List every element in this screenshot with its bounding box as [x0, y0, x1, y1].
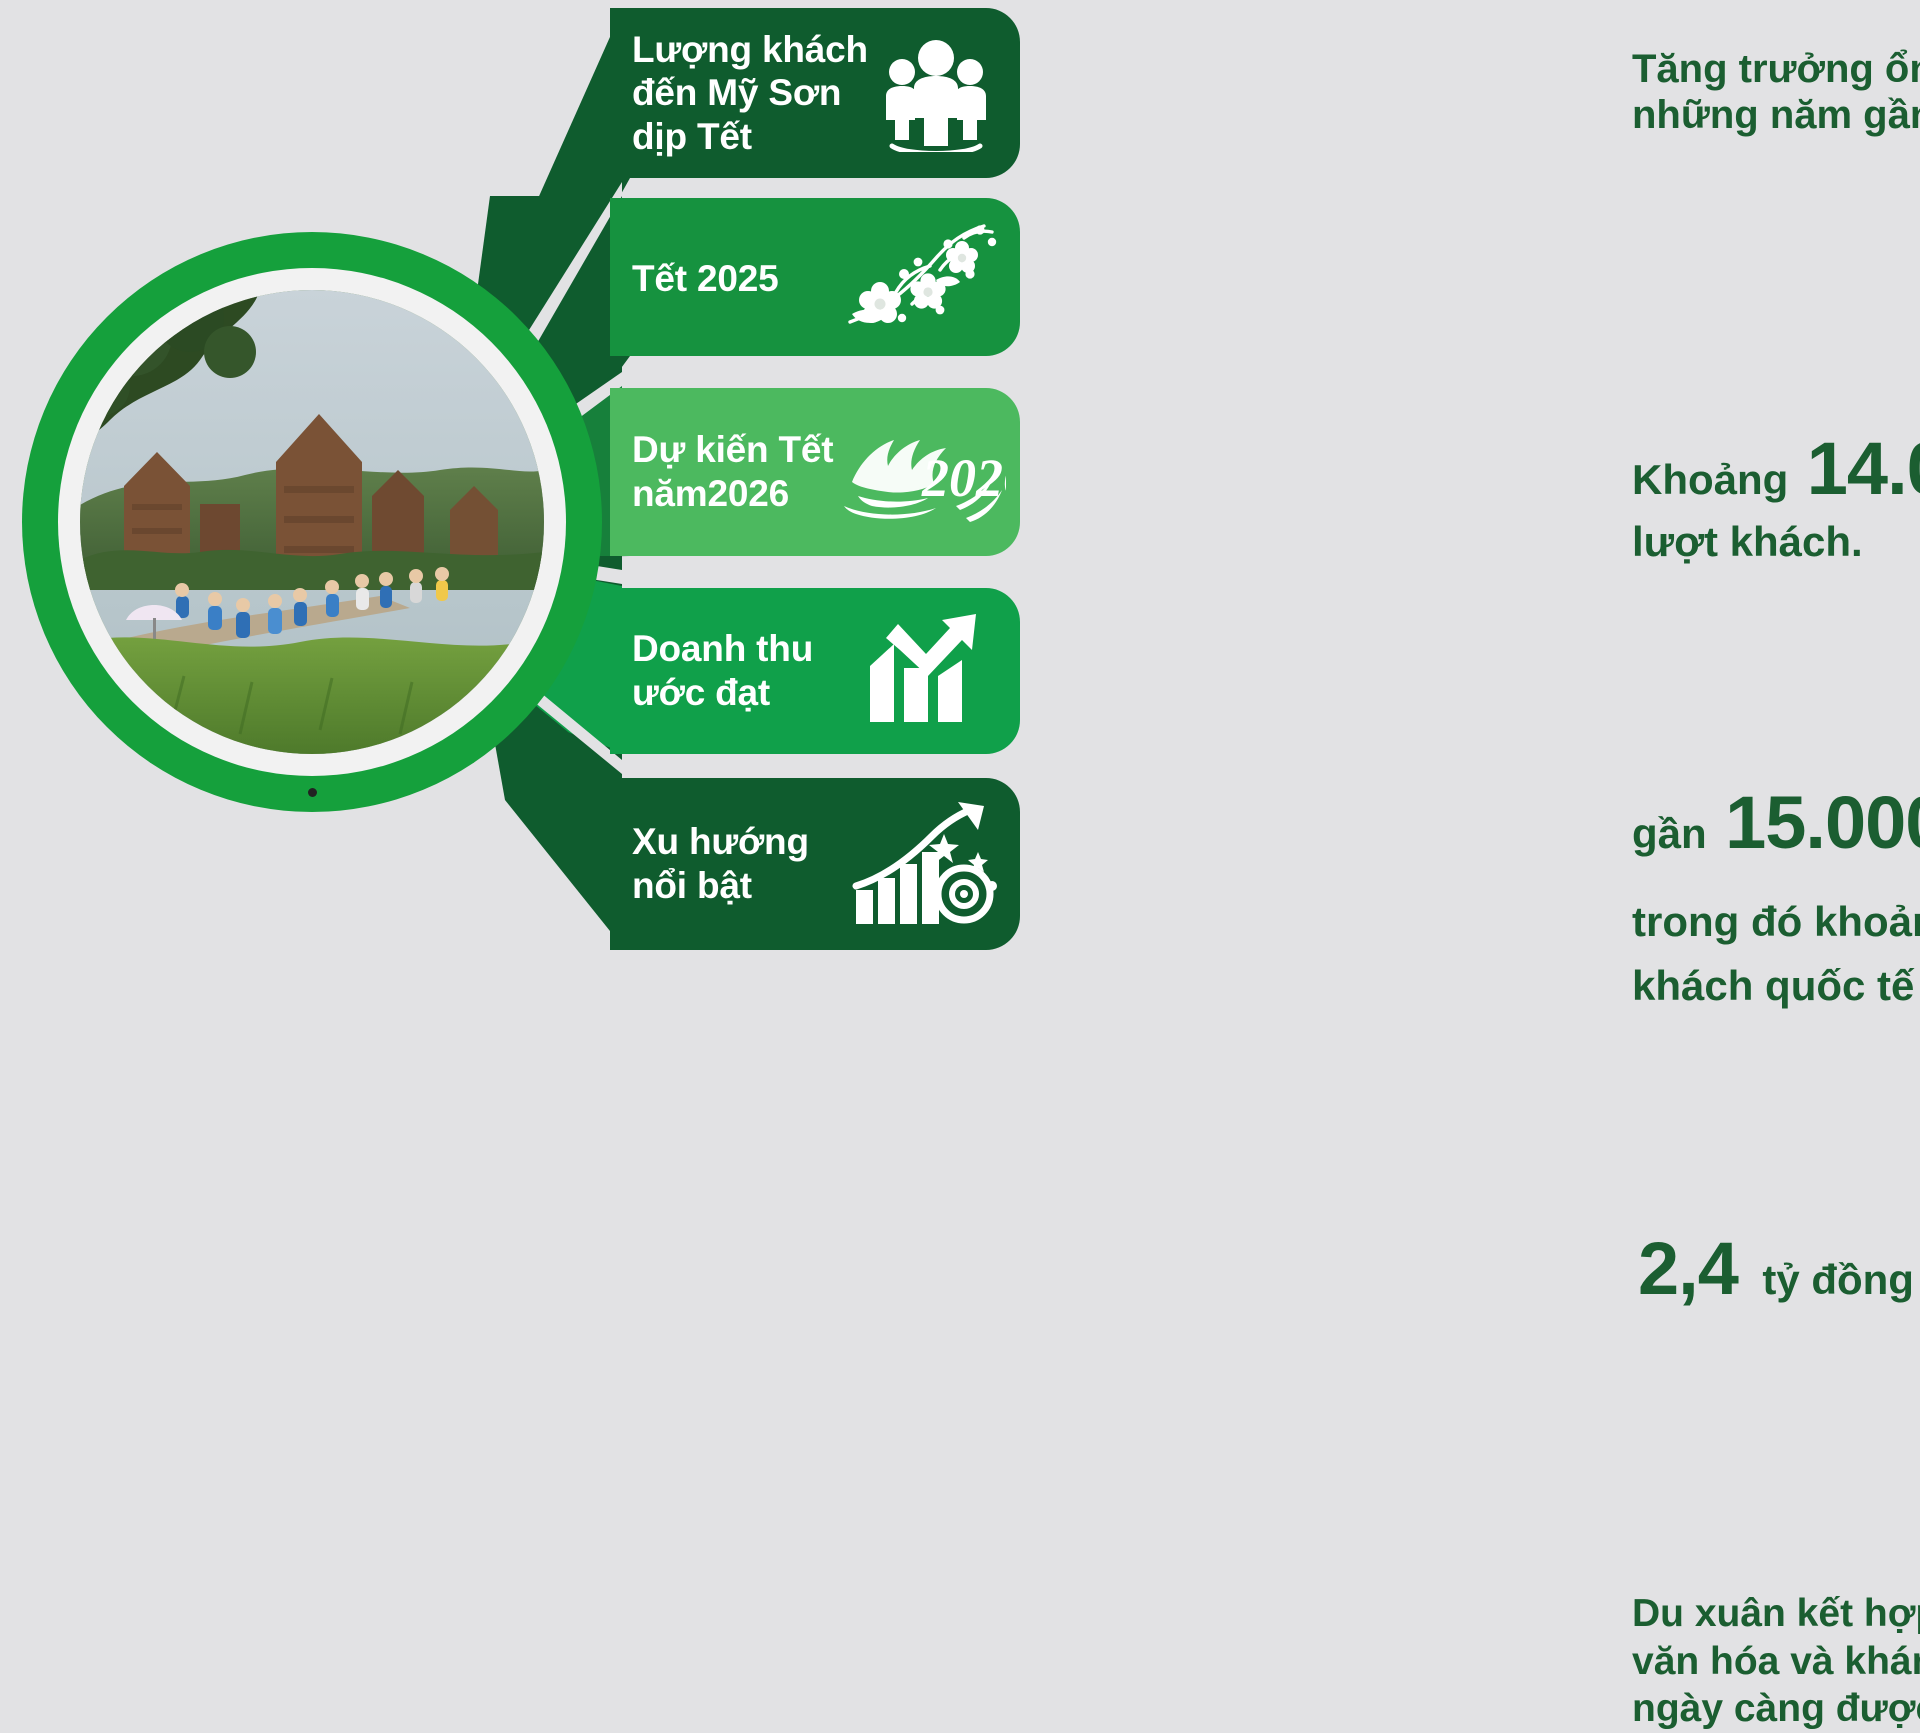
row-tet-2025-side-text: Khoảng 14.000 lượt khách. [1632, 432, 1920, 566]
row-trend-pill[interactable]: Xu hướng nổi bật [610, 778, 1020, 950]
row-tet-2026-pill[interactable]: Dự kiến Tết năm2026 2026 [610, 388, 1020, 556]
horse-2026-icon: 2026 [836, 410, 1006, 534]
row-tet-2025-title: Tết 2025 [632, 257, 779, 301]
row-trend-side-line-2: văn hóa và khám phá thiên nhiên [1632, 1638, 1920, 1686]
row-visitors-side-text: Tăng trưởng ổn định những năm gần đây [1632, 46, 1920, 138]
row-visitors: Lượng khách đến Mỹ Sơn dịp Tết Tăng trư [610, 8, 1020, 178]
row-visitors-pill[interactable]: Lượng khách đến Mỹ Sơn dịp Tết [610, 8, 1020, 178]
row-visitors-side-line-1: Tăng trưởng ổn định [1632, 46, 1920, 92]
row-tet-2026-number: 15.000 [1725, 786, 1920, 860]
row-tet-2026-side-text: gần 15.000 lượt khách, trong đó khoảng 1… [1632, 786, 1920, 1010]
row-revenue-side-text: 2,4 tỷ đồng [1638, 1226, 1914, 1311]
my-son-photo [80, 290, 544, 754]
infographic-canvas: Lượng khách đến Mỹ Sơn dịp Tết Tăng trư [0, 0, 1920, 1180]
row-revenue-number: 2,4 [1638, 1226, 1738, 1311]
row-tet-2026-side-suffix-2: khách quốc tế [1632, 962, 1920, 1010]
my-son-photo-circle [22, 232, 602, 812]
horse-2026-label: 2026 [921, 448, 1006, 508]
row-trend: Xu hướng nổi bật [610, 778, 1020, 950]
target-growth-icon [852, 798, 1002, 930]
row-tet-2025-pill[interactable]: Tết 2025 [610, 198, 1020, 356]
row-tet-2025-side-suffix: lượt khách. [1632, 518, 1920, 566]
row-tet-2026: Dự kiến Tết năm2026 2026 gần 15.000 [610, 388, 1020, 556]
row-tet-2025: Tết 2025 [610, 198, 1020, 356]
row-trend-title: Xu hướng nổi bật [632, 820, 809, 907]
ring-marker-dot [308, 788, 317, 797]
row-visitors-title: Lượng khách đến Mỹ Sơn dịp Tết [632, 28, 868, 159]
row-revenue-unit: tỷ đồng [1762, 1256, 1914, 1304]
people-group-icon [876, 34, 996, 152]
row-tet-2025-number: 14.000 [1807, 432, 1920, 506]
row-tet-2026-side-prefix: gần [1632, 813, 1707, 855]
row-trend-side-line-1: Du xuân kết hợp trải nghiệm [1632, 1590, 1920, 1638]
row-revenue-pill[interactable]: Doanh thu ước đạt [610, 588, 1020, 754]
apricot-blossom-icon [844, 218, 1004, 336]
row-trend-side-line-3: ngày càng được ưa chuộng [1632, 1685, 1920, 1733]
row-tet-2026-side-prefix-2: trong đó khoảng [1632, 901, 1920, 943]
row-revenue-title: Doanh thu ước đạt [632, 627, 813, 714]
row-revenue: Doanh thu ước đạt 2,4 tỷ đồng [610, 588, 1020, 754]
row-visitors-side-line-2: những năm gần đây [1632, 92, 1920, 138]
growth-chart-icon [864, 614, 994, 728]
row-tet-2025-side-prefix: Khoảng [1632, 459, 1788, 501]
row-trend-side-text: Du xuân kết hợp trải nghiệm văn hóa và k… [1632, 1590, 1920, 1733]
row-tet-2026-title: Dự kiến Tết năm2026 [632, 428, 833, 515]
